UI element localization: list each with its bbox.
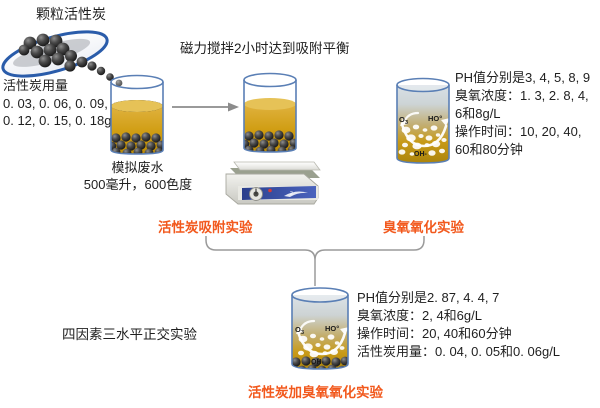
arrow-right-icon bbox=[172, 100, 240, 114]
magnetic-stirrer: 2 bbox=[218, 148, 324, 210]
brace-connector bbox=[195, 236, 435, 288]
wastewater-spec: 500毫升，600色度 bbox=[72, 177, 204, 194]
ozone-params-line4: 操作时间：10, 20, 40, bbox=[455, 123, 600, 141]
beaker-ozone: O 3 HO° OH- bbox=[390, 72, 456, 170]
label-hydroxyl-radical: HO° bbox=[325, 324, 339, 333]
label-ozonation-experiment: 臭氧氧化实验 bbox=[383, 216, 464, 236]
brace-icon bbox=[195, 236, 435, 288]
combined-params-line3: 操作时间：20, 40和60分钟 bbox=[357, 325, 600, 343]
label-hydroxyl-radical: HO° bbox=[428, 114, 442, 123]
wastewater-name: 模拟废水 bbox=[85, 160, 190, 177]
stir-caption: 磁力搅拌2小时达到吸附平衡 bbox=[180, 41, 350, 58]
beaker-on-stirrer bbox=[238, 68, 302, 156]
label-combined-experiment: 活性炭加臭氧氧化实验 bbox=[248, 381, 383, 401]
beaker-ozone-icon: O 3 HO° OH- bbox=[390, 72, 456, 170]
combined-params-line2: 臭氧浓度：2, 4和6g/L bbox=[357, 307, 600, 325]
label-orthogonal-experiment: 四因素三水平正交实验 bbox=[62, 327, 197, 344]
label-adsorption-experiment: 活性炭吸附实验 bbox=[158, 216, 253, 236]
magnetic-stirrer-icon: 2 bbox=[218, 148, 324, 210]
label-hydroxide: OH- bbox=[311, 359, 325, 366]
beaker-combined-icon: O 3 HO° OH- bbox=[284, 282, 356, 378]
flow-arrow-right bbox=[172, 100, 240, 114]
label-hydroxide: OH- bbox=[414, 151, 428, 158]
combined-params-block: PH值分别是2. 87, 4. 4, 7 臭氧浓度：2, 4和6g/L 操作时间… bbox=[357, 289, 600, 361]
carbon-title: 颗粒活性炭 bbox=[36, 6, 106, 23]
diagram-canvas: 颗粒活性炭 活性炭用量 0. 03, 0. 06, 0. 09, 0. 12, … bbox=[0, 0, 600, 408]
beaker-icon bbox=[105, 70, 169, 158]
beaker-icon bbox=[238, 68, 302, 156]
svg-text:3: 3 bbox=[301, 330, 304, 336]
ozone-params-line3: 6和8g/L bbox=[455, 105, 600, 123]
combined-params-line4: 活性炭用量：0. 04, 0. 05和0. 06g/L bbox=[357, 343, 600, 361]
svg-text:2: 2 bbox=[290, 191, 293, 197]
combined-params-line1: PH值分别是2. 87, 4. 4, 7 bbox=[357, 289, 600, 307]
svg-text:3: 3 bbox=[405, 120, 408, 126]
ozone-params-block: PH值分别是3, 4, 5, 8, 9 臭氧浓度：1. 3, 2. 8, 4, … bbox=[455, 69, 600, 159]
ozone-params-line1: PH值分别是3, 4, 5, 8, 9 bbox=[455, 69, 600, 87]
beaker-combined: O 3 HO° OH- bbox=[284, 282, 356, 378]
ozone-params-line5: 60和80分钟 bbox=[455, 141, 600, 159]
ozone-params-line2: 臭氧浓度：1. 3, 2. 8, 4, bbox=[455, 87, 600, 105]
beaker-wastewater bbox=[105, 70, 169, 158]
